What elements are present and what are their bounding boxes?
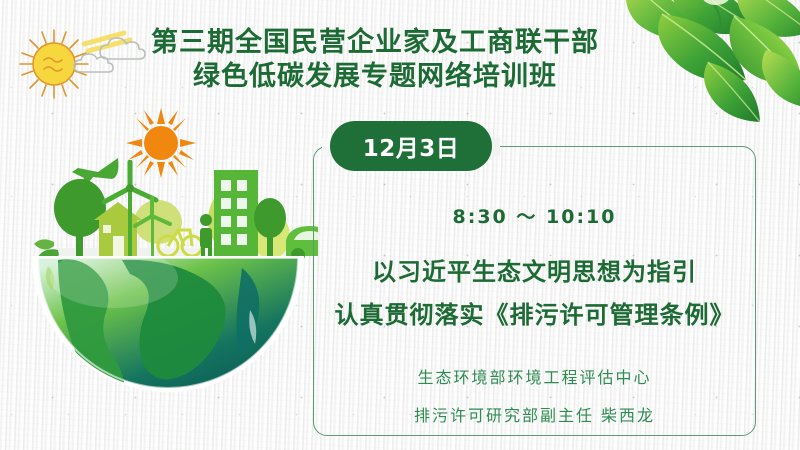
poster-canvas: 第三期全国民营企业家及工商联干部 绿色低碳发展专题网络培训班 12月3日 8:3… — [0, 0, 800, 450]
content-frame — [313, 146, 756, 436]
eco-globe-illustration — [18, 160, 318, 448]
speaker-organization: 生态环境部环境工程评估中心 — [313, 364, 756, 388]
speaker-title-and-name: 排污许可研究部副主任 柴西龙 — [313, 402, 756, 426]
topic-line-1: 以习近平生态文明思想为指引 — [313, 252, 756, 287]
poster-title: 第三期全国民营企业家及工商联干部 绿色低碳发展专题网络培训班 — [140, 26, 610, 94]
session-time: 8:30 ～ 10:10 — [313, 202, 756, 229]
leaves-icon — [588, 0, 800, 138]
title-line-1: 第三期全国民营企业家及工商联干部 — [140, 26, 610, 60]
topic-line-2: 认真贯彻落实《排污许可管理条例》 — [313, 295, 756, 330]
title-line-2: 绿色低碳发展专题网络培训班 — [140, 60, 610, 94]
date-badge: 12月3日 — [330, 121, 492, 171]
date-badge-label: 12月3日 — [363, 129, 460, 163]
